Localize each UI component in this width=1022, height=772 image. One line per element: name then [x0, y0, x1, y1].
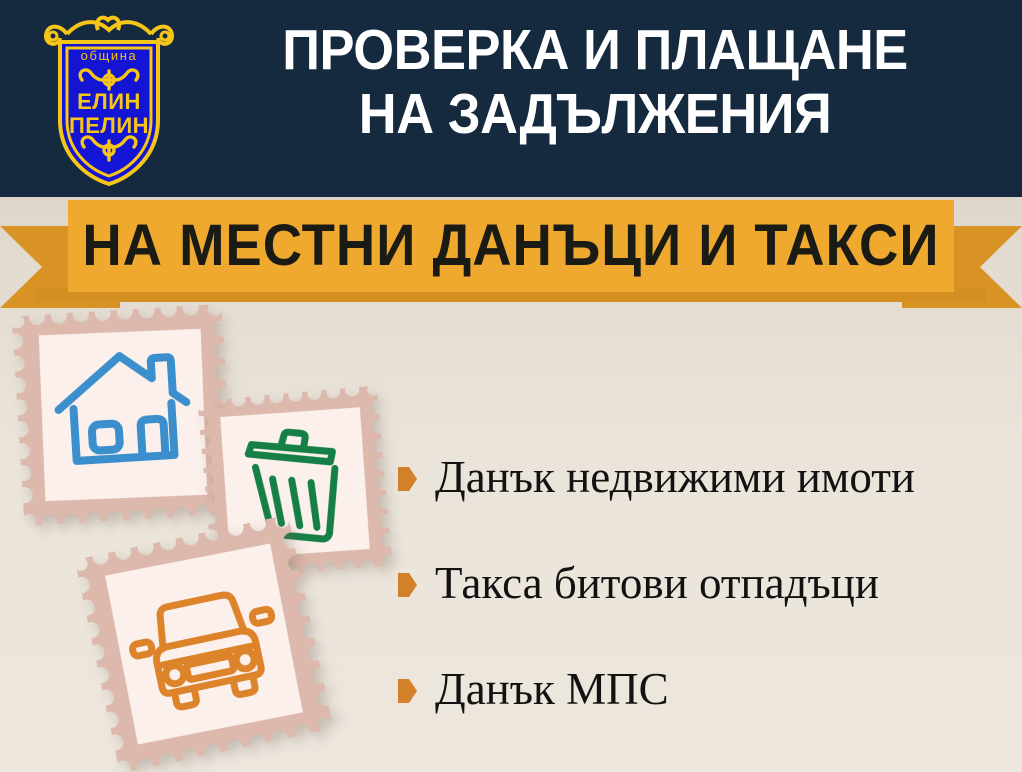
bullet-arrow-icon — [398, 679, 417, 703]
logo-word-pelin: ПЕЛИН — [69, 113, 149, 138]
tax-type-list: Данък недвижими имоти Такса битови отпад… — [398, 424, 1018, 742]
stamp-card-group — [0, 300, 420, 772]
ribbon-main-panel: НА МЕСТНИ ДАНЪЦИ И ТАКСИ — [68, 200, 954, 292]
list-item[interactable]: Данък недвижими имоти — [398, 424, 1018, 530]
list-item-label: Такса битови отпадъци — [435, 558, 879, 608]
stamp-card-car — [75, 515, 334, 772]
page-title: ПРОВЕРКА И ПЛАЩАНЕ НА ЗАДЪЛЖЕНИЯ — [190, 18, 1000, 146]
poster-canvas: община ЕЛИН ПЕЛИН ПРОВЕРКА И ПЛАЩАНЕ НА … — [0, 0, 1022, 772]
ribbon-label: НА МЕСТНИ ДАНЪЦИ И ТАКСИ — [82, 215, 939, 277]
bullet-arrow-icon — [398, 573, 417, 597]
list-item-label: Данък недвижими имоти — [435, 452, 915, 502]
list-item[interactable]: Такса битови отпадъци — [398, 530, 1018, 636]
page-title-line-2: НА ЗАДЪЛЖЕНИЯ — [222, 82, 967, 146]
bullet-arrow-icon — [398, 467, 417, 491]
subtitle-ribbon: НА МЕСТНИ ДАНЪЦИ И ТАКСИ — [0, 196, 1022, 308]
logo-word-elin: ЕЛИН — [77, 89, 141, 114]
list-item-label: Данък МПС — [435, 664, 669, 714]
municipality-coat-of-arms: община ЕЛИН ПЕЛИН — [36, 8, 182, 190]
page-title-line-1: ПРОВЕРКА И ПЛАЩАНЕ — [222, 18, 967, 82]
shield-emblem-icon: община ЕЛИН ПЕЛИН — [36, 8, 182, 190]
logo-word-obshtina: община — [81, 48, 138, 63]
header-bar: община ЕЛИН ПЕЛИН ПРОВЕРКА И ПЛАЩАНЕ НА … — [0, 0, 1022, 197]
list-item[interactable]: Данък МПС — [398, 636, 1018, 742]
